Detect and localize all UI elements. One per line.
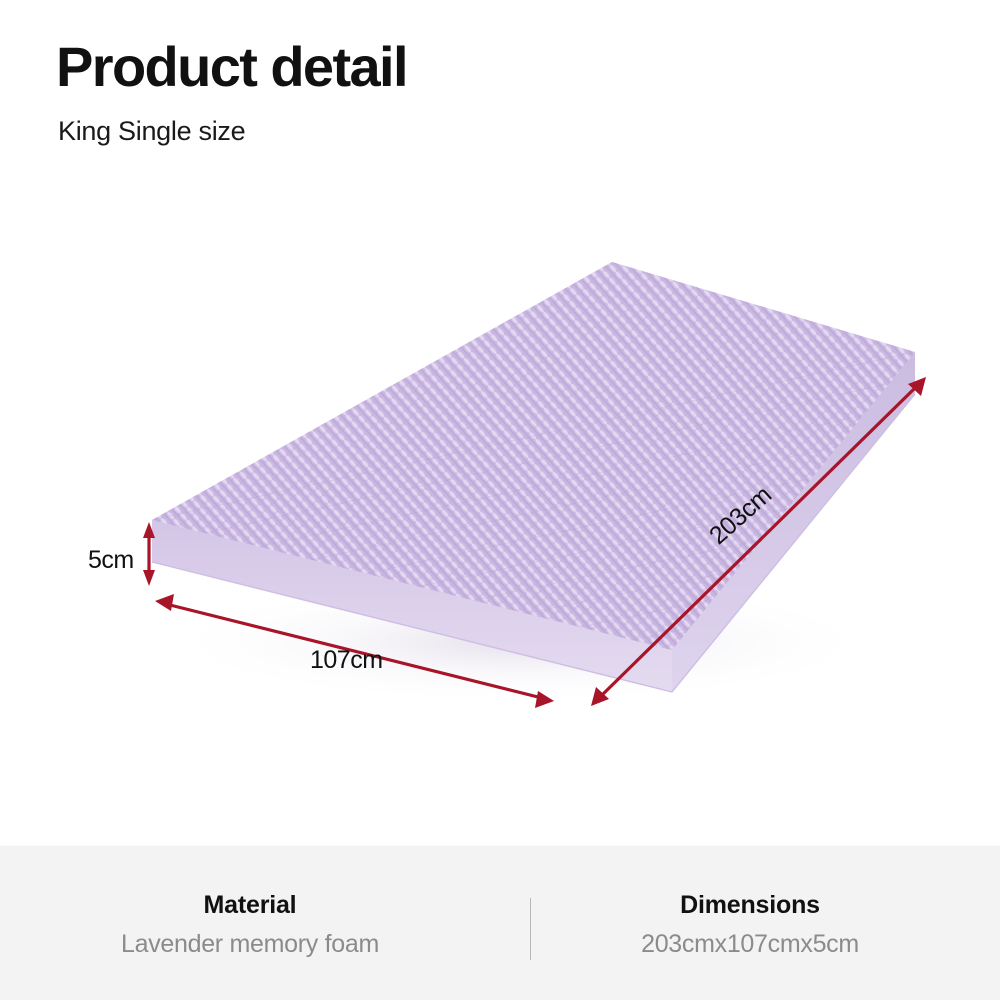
spec-footer: Material Lavender memory foam Dimensions… — [0, 845, 1000, 1000]
page-header: Product detail King Single size — [0, 0, 1000, 180]
dimension-label-height: 5cm — [88, 546, 134, 575]
page-subtitle: King Single size — [58, 116, 245, 147]
product-illustration-stage: 5cm 107cm 203cm — [0, 180, 1000, 845]
spec-material-value: Lavender memory foam — [0, 926, 500, 962]
spec-dimensions: Dimensions 203cmx107cmx5cm — [500, 885, 1000, 962]
spec-dimensions-value: 203cmx107cmx5cm — [500, 926, 1000, 962]
spec-material: Material Lavender memory foam — [0, 885, 500, 962]
dimension-label-width: 107cm — [310, 646, 383, 675]
mattress-illustration — [0, 180, 1000, 845]
spec-dimensions-title: Dimensions — [500, 889, 1000, 923]
spec-material-title: Material — [0, 889, 500, 923]
product-detail-page: Product detail King Single size — [0, 0, 1000, 1000]
spec-divider — [530, 898, 531, 960]
spec-row: Material Lavender memory foam Dimensions… — [0, 846, 1000, 1000]
page-title: Product detail — [56, 38, 407, 97]
